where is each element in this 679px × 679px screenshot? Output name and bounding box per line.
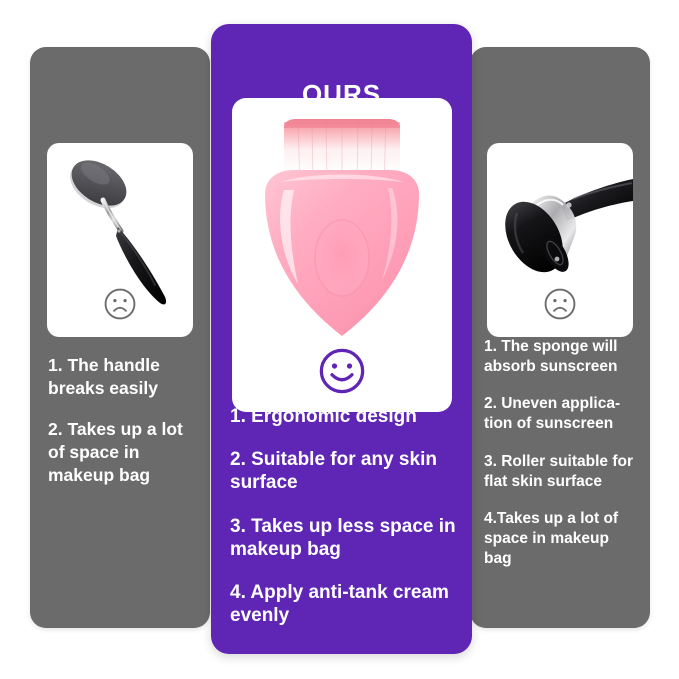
list-item: 3. Takes up less space in makeup bag xyxy=(230,515,462,561)
list-item: 2. Suitable for any skin surface xyxy=(230,448,462,494)
drawback-list-right: 1. The sponge will absorb sunscreen 2. U… xyxy=(484,337,640,586)
list-item: 3. Roller suitable for flat skin surface xyxy=(484,452,640,492)
list-item: 2. Takes up a lot of space in makeup bag xyxy=(48,418,198,487)
sad-face-icon xyxy=(543,287,577,321)
comparison-infographic: OTHERS xyxy=(0,0,679,679)
comparison-column-others-left: OTHERS xyxy=(30,47,210,628)
product-photo-panel-ours xyxy=(232,98,452,412)
product-photo-panel-right xyxy=(487,143,633,337)
list-item: 4. Apply anti-tank cream evenly xyxy=(230,581,462,627)
list-item: 4.Takes up a lot of space in makeup bag xyxy=(484,509,640,569)
happy-face-icon xyxy=(317,346,367,396)
list-item: 2. Uneven applica- tion of sunscreen xyxy=(484,394,640,434)
feature-list-ours: 1. Ergonomic design 2. Suitable for any … xyxy=(230,405,462,627)
comparison-column-others-right: OTHERS xyxy=(470,47,650,628)
list-item: 1. Ergonomic design xyxy=(230,405,462,428)
list-item: 1. The handle breaks easily xyxy=(48,354,198,400)
list-item: 1. The sponge will absorb sunscreen xyxy=(484,337,640,377)
comparison-column-ours: OURS xyxy=(211,24,472,654)
product-photo-panel-left xyxy=(47,143,193,337)
sad-face-icon xyxy=(103,287,137,321)
drawback-list-left: 1. The handle breaks easily 2. Takes up … xyxy=(48,354,198,487)
